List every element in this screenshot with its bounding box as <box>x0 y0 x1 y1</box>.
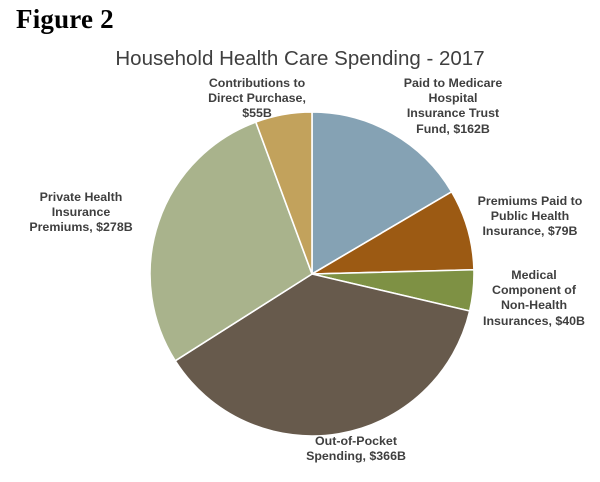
label-line: Paid to Medicare <box>378 76 528 91</box>
label-line: Premiums, $278B <box>6 220 156 235</box>
label-line: Out-of-Pocket <box>256 434 456 449</box>
label-line: Component of <box>470 283 598 298</box>
label-line: Contributions to <box>189 76 325 91</box>
label-line: Fund, $162B <box>378 122 528 137</box>
pie-label-contributions-to-direct-purchase: Contributions toDirect Purchase,$55B <box>189 76 325 122</box>
pie-label-premiums-paid-to-public-health-insurance: Premiums Paid toPublic HealthInsurance, … <box>462 194 598 240</box>
pie-chart-svg <box>0 0 600 482</box>
label-line: Direct Purchase, <box>189 91 325 106</box>
label-line: Medical <box>470 268 598 283</box>
label-line: Premiums Paid to <box>462 194 598 209</box>
label-line: $55B <box>189 106 325 121</box>
figure-container: Figure 2 Household Health Care Spending … <box>0 0 600 482</box>
label-line: Private Health <box>6 190 156 205</box>
label-line: Insurance <box>6 205 156 220</box>
pie-chart <box>0 0 600 482</box>
pie-label-medical-component-of-non-health-insurances: MedicalComponent ofNon-HealthInsurances,… <box>470 268 598 329</box>
label-line: Spending, $366B <box>256 449 456 464</box>
label-line: Public Health <box>462 209 598 224</box>
label-line: Insurance, $79B <box>462 224 598 239</box>
label-line: Insurances, $40B <box>470 314 598 329</box>
label-line: Non-Health <box>470 298 598 313</box>
pie-label-private-health-insurance-premiums: Private HealthInsurancePremiums, $278B <box>6 190 156 236</box>
label-line: Hospital <box>378 91 528 106</box>
pie-label-out-of-pocket-spending: Out-of-PocketSpending, $366B <box>256 434 456 464</box>
label-line: Insurance Trust <box>378 106 528 121</box>
pie-label-paid-to-medicare-hospital-insurance-trust-fund: Paid to MedicareHospitalInsurance TrustF… <box>378 76 528 137</box>
